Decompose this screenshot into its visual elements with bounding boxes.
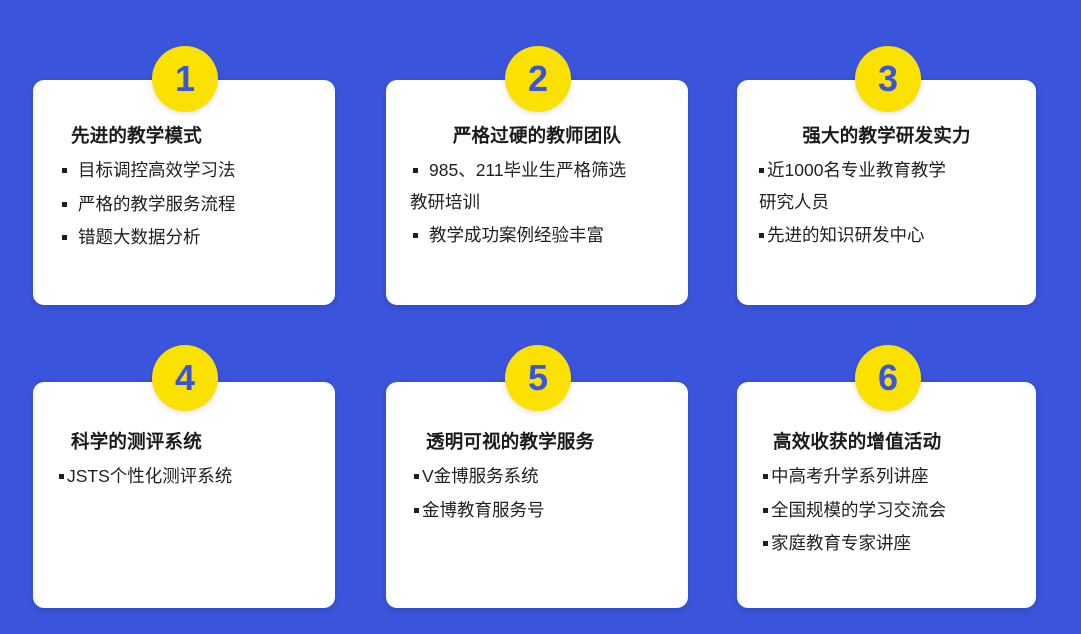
list-item-label: 家庭教育专家讲座 [771,533,911,553]
bullet-square-icon [763,474,768,479]
card-body-5: 透明可视的教学服务 V金博服务系统 金博教育服务号 [386,428,688,519]
card-body-6: 高效收获的增值活动 中高考升学系列讲座 全国规模的学习交流会 家庭教育专家讲座 [737,428,1036,553]
bullet-square-icon [759,233,764,238]
list-item-label: 研究人员 [759,192,829,212]
list-item: 先进的知识研发中心 [759,227,1014,245]
list-item: 金博教育服务号 [414,502,660,520]
list-item: 教学成功案例经验丰富 [410,227,664,245]
card-title-6: 高效收获的增值活动 [773,428,1010,454]
feature-card-1[interactable]: 先进的教学模式 目标调控高效学习法 严格的教学服务流程 错题大数据分析 [33,80,335,305]
card-badge-2: 2 [505,46,571,112]
bullet-square-icon [59,474,64,479]
card-bullet-list-3: 近1000名专业教育教学 研究人员 先进的知识研发中心 [759,162,1014,245]
list-item: 家庭教育专家讲座 [763,535,1010,553]
card-badge-6: 6 [855,345,921,411]
bullet-square-icon [759,168,764,173]
list-item-label: 目标调控高效学习法 [78,160,236,180]
card-title-4: 科学的测评系统 [71,428,309,454]
feature-card-6[interactable]: 高效收获的增值活动 中高考升学系列讲座 全国规模的学习交流会 家庭教育专家讲座 [737,382,1036,608]
list-item-label: JSTS个性化测评系统 [67,466,232,486]
list-item-label: 教学成功案例经验丰富 [429,225,604,245]
feature-card-4[interactable]: 科学的测评系统 JSTS个性化测评系统 [33,382,335,608]
list-item-label: 中高考升学系列讲座 [771,466,929,486]
card-title-1: 先进的教学模式 [71,122,309,148]
bullet-square-icon [414,474,419,479]
card-bullet-list-6: 中高考升学系列讲座 全国规模的学习交流会 家庭教育专家讲座 [763,468,1010,553]
list-item-label: 全国规模的学习交流会 [771,500,946,520]
card-title-3: 强大的教学研发实力 [759,122,1014,148]
card-bullet-list-2: 985、211毕业生严格筛选 教研培训 教学成功案例经验丰富 [410,162,664,245]
feature-card-2[interactable]: 严格过硬的教师团队 985、211毕业生严格筛选 教研培训 教学成功案例经验丰富 [386,80,688,305]
list-item: 目标调控高效学习法 [59,162,309,180]
list-item-label: V金博服务系统 [422,466,539,486]
list-item-label: 教研培训 [410,192,480,212]
card-badge-4: 4 [152,345,218,411]
card-badge-1: 1 [152,46,218,112]
card-bullet-list-4: JSTS个性化测评系统 [59,468,309,486]
list-item: 错题大数据分析 [59,229,309,247]
card-body-1: 先进的教学模式 目标调控高效学习法 严格的教学服务流程 错题大数据分析 [33,122,335,247]
list-item: 全国规模的学习交流会 [763,502,1010,520]
bullet-square-icon [763,541,768,546]
card-bullet-list-5: V金博服务系统 金博教育服务号 [414,468,660,519]
bullet-square-icon [62,235,67,240]
list-item-label: 严格的教学服务流程 [78,194,236,214]
list-item-continuation: 研究人员 [759,194,1014,212]
feature-card-3[interactable]: 强大的教学研发实力 近1000名专业教育教学 研究人员 先进的知识研发中心 [737,80,1036,305]
list-item-label: 先进的知识研发中心 [767,225,925,245]
bullet-square-icon [62,202,67,207]
card-body-4: 科学的测评系统 JSTS个性化测评系统 [33,428,335,486]
card-badge-5: 5 [505,345,571,411]
list-item: 严格的教学服务流程 [59,196,309,214]
feature-card-5[interactable]: 透明可视的教学服务 V金博服务系统 金博教育服务号 [386,382,688,608]
list-item: JSTS个性化测评系统 [59,468,309,486]
bullet-square-icon [413,233,418,238]
list-item: V金博服务系统 [414,468,660,486]
bullet-square-icon [763,508,768,513]
list-item-label: 金博教育服务号 [422,500,545,520]
list-item-label: 近1000名专业教育教学 [767,160,946,180]
card-title-5: 透明可视的教学服务 [426,428,660,454]
card-badge-3: 3 [855,46,921,112]
list-item: 近1000名专业教育教学 [759,162,1014,180]
list-item-continuation: 教研培训 [410,194,664,212]
card-body-2: 严格过硬的教师团队 985、211毕业生严格筛选 教研培训 教学成功案例经验丰富 [386,122,688,245]
card-bullet-list-1: 目标调控高效学习法 严格的教学服务流程 错题大数据分析 [59,162,309,247]
bullet-square-icon [413,168,418,173]
list-item-label: 错题大数据分析 [78,227,201,247]
card-title-2: 严格过硬的教师团队 [410,122,664,148]
feature-card-grid: 1 先进的教学模式 目标调控高效学习法 严格的教学服务流程 错题大数据分析 2 … [0,0,1081,634]
list-item: 中高考升学系列讲座 [763,468,1010,486]
bullet-square-icon [62,168,67,173]
list-item-label: 985、211毕业生严格筛选 [429,160,626,180]
card-body-3: 强大的教学研发实力 近1000名专业教育教学 研究人员 先进的知识研发中心 [737,122,1036,245]
list-item: 985、211毕业生严格筛选 [410,162,664,180]
bullet-square-icon [414,508,419,513]
